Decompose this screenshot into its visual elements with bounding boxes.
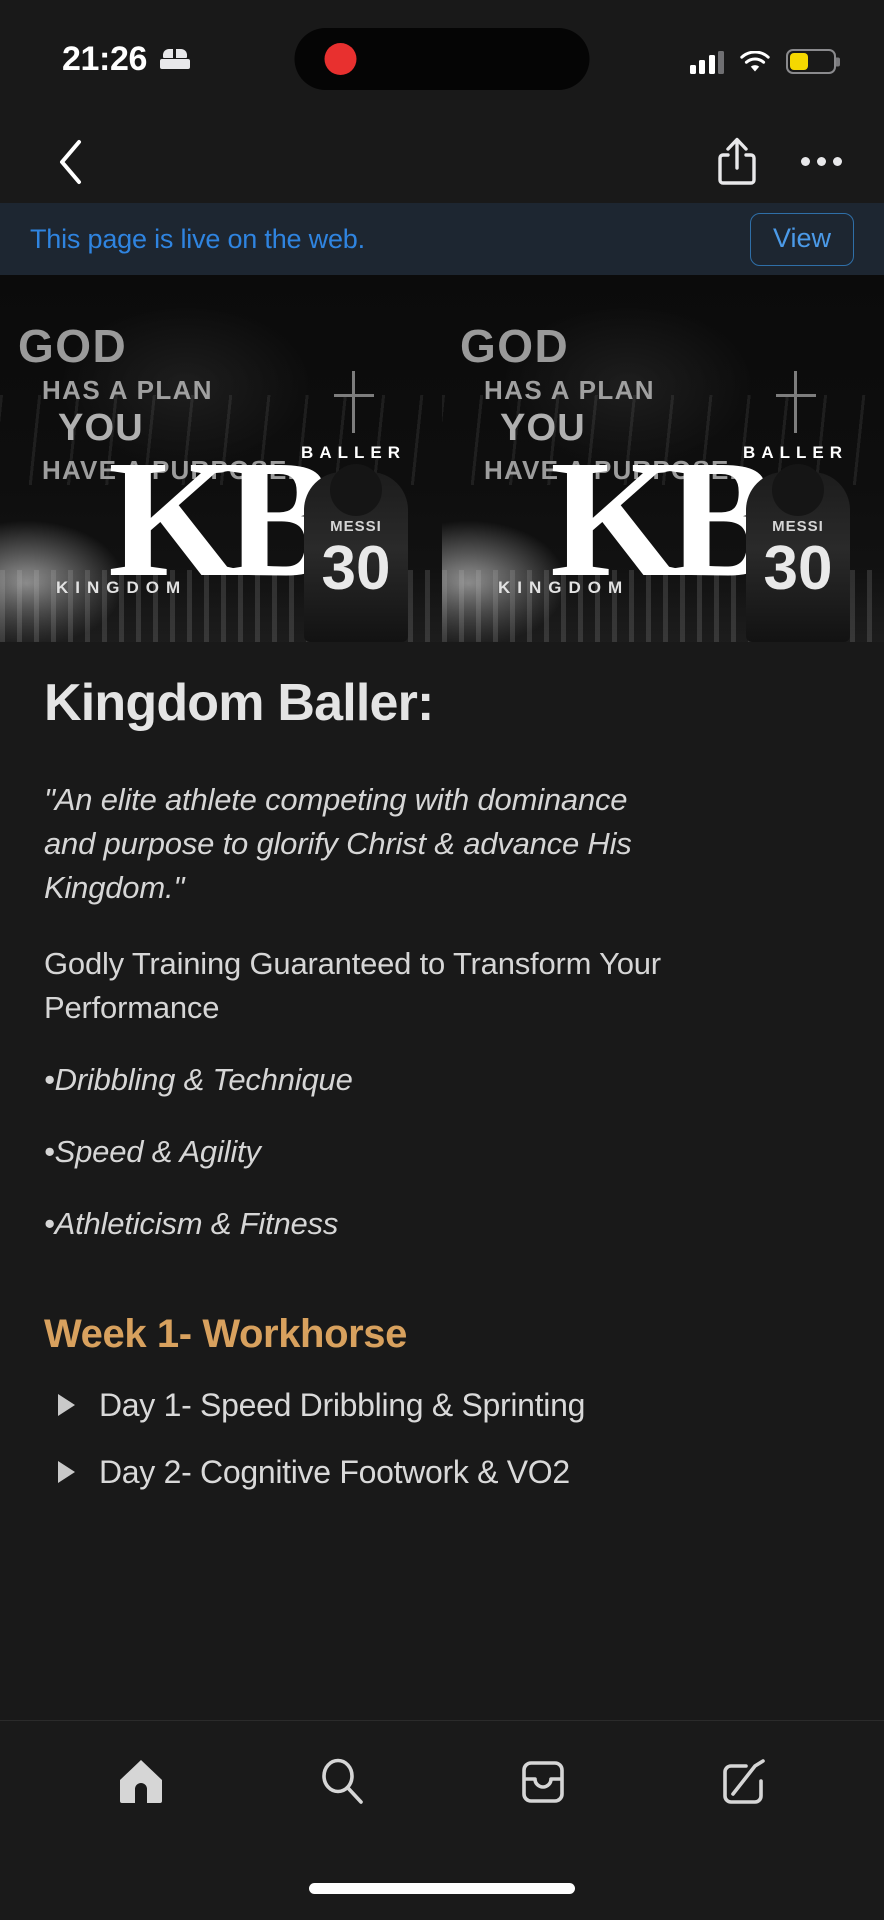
home-tab[interactable] — [96, 1736, 186, 1826]
hero-line-1: GOD — [18, 323, 127, 369]
subheading-paragraph[interactable]: Godly Training Guaranteed to Transform Y… — [44, 942, 704, 1030]
hero-kingdom-text: KINGDOM — [498, 578, 629, 598]
hero-line-2: HAS A PLAN — [42, 375, 213, 406]
player-silhouette-2: MESSI 30 — [746, 472, 850, 642]
compose-icon — [717, 1754, 771, 1808]
new-page-tab[interactable] — [699, 1736, 789, 1826]
hero-monogram: KB — [108, 447, 323, 591]
bed-icon — [160, 48, 190, 70]
live-banner-message: This page is live on the web. — [30, 224, 365, 255]
page-content: Kingdom Baller: "An elite athlete compet… — [0, 674, 884, 1491]
back-button[interactable] — [44, 136, 96, 188]
record-dot-icon — [325, 43, 357, 75]
ellipsis-icon — [801, 157, 842, 166]
cellular-bars-icon — [690, 52, 725, 74]
home-indicator — [309, 1883, 575, 1894]
hero-background-1: GOD HAS A PLAN YOU HAVE A PURPOSE. BALLE… — [0, 275, 442, 642]
chevron-right-icon[interactable] — [58, 1394, 75, 1416]
hero-background-2: GOD HAS A PLAN YOU HAVE A PURPOSE. BALLE… — [442, 275, 884, 642]
inbox-tab[interactable] — [498, 1736, 588, 1826]
navigation-bar — [0, 118, 884, 203]
toggle-block-day-1[interactable]: Day 1- Speed Dribbling & Sprinting — [44, 1387, 840, 1424]
home-icon — [114, 1754, 168, 1808]
inbox-icon — [516, 1754, 570, 1808]
week-heading[interactable]: Week 1- Workhorse — [44, 1312, 840, 1357]
search-tab[interactable] — [297, 1736, 387, 1826]
cross-icon — [776, 371, 816, 433]
search-icon — [315, 1754, 369, 1808]
jersey-number: 30 — [764, 538, 833, 600]
status-bar-right — [690, 44, 837, 74]
tab-list — [0, 1721, 884, 1841]
wifi-icon — [740, 51, 770, 74]
live-on-web-banner: This page is live on the web. View — [0, 203, 884, 275]
bottom-tab-bar — [0, 1720, 884, 1920]
share-button[interactable] — [708, 132, 766, 190]
jersey-name: MESSI — [330, 518, 382, 535]
hero-line-2: HAS A PLAN — [484, 375, 655, 406]
hero-image-2[interactable]: GOD HAS A PLAN YOU HAVE A PURPOSE. BALLE… — [442, 275, 884, 642]
chevron-right-icon[interactable] — [58, 1461, 75, 1483]
navigation-actions — [708, 132, 850, 190]
hero-kingdom-text: KINGDOM — [56, 578, 187, 598]
jersey-name: MESSI — [772, 518, 824, 535]
view-button[interactable]: View — [750, 213, 854, 266]
bullet-item-3[interactable]: •Athleticism & Fitness — [44, 1202, 840, 1246]
bullet-item-1[interactable]: •Dribbling & Technique — [44, 1058, 840, 1102]
toggle-block-day-2[interactable]: Day 2- Cognitive Footwork & VO2 — [44, 1454, 840, 1491]
page-title[interactable]: Kingdom Baller: — [44, 674, 840, 734]
cross-icon — [334, 371, 374, 433]
player-silhouette-1: MESSI 30 — [304, 472, 408, 642]
jersey-number: 30 — [322, 538, 391, 600]
hero-monogram: KB — [550, 447, 765, 591]
status-time: 21:26 — [62, 42, 147, 76]
dynamic-island[interactable] — [295, 28, 590, 90]
status-bar-left: 21:26 — [62, 42, 190, 76]
bullet-item-2[interactable]: •Speed & Agility — [44, 1130, 840, 1174]
status-bar: 21:26 — [0, 0, 884, 118]
hero-line-1: GOD — [460, 323, 569, 369]
chevron-left-icon — [57, 139, 83, 185]
share-icon — [716, 136, 758, 186]
toggle-label-day-1: Day 1- Speed Dribbling & Sprinting — [99, 1387, 585, 1424]
battery-low-power-icon — [786, 49, 836, 74]
more-options-button[interactable] — [792, 132, 850, 190]
quote-paragraph[interactable]: "An elite athlete competing with dominan… — [44, 778, 684, 910]
toggle-label-day-2: Day 2- Cognitive Footwork & VO2 — [99, 1454, 570, 1491]
hero-image-1[interactable]: GOD HAS A PLAN YOU HAVE A PURPOSE. BALLE… — [0, 275, 442, 642]
hero-image-row: GOD HAS A PLAN YOU HAVE A PURPOSE. BALLE… — [0, 275, 884, 642]
